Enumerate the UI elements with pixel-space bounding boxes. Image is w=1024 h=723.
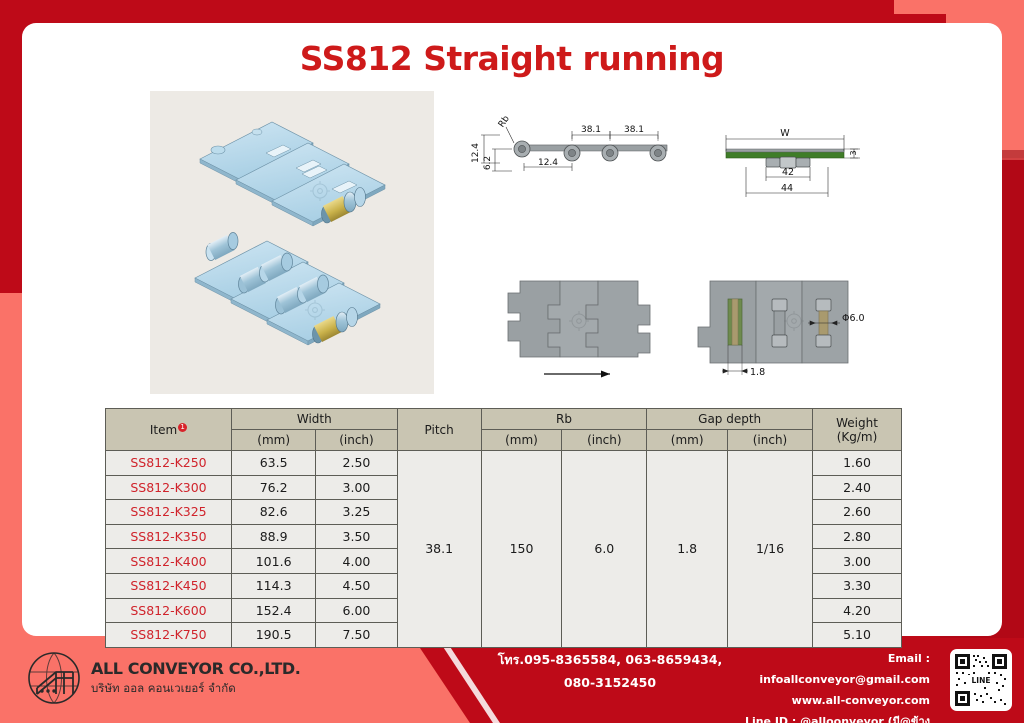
cell-width-mm: 76.2 bbox=[232, 475, 316, 500]
header-item: Item1 bbox=[106, 409, 232, 451]
line-qr-code[interactable]: LINE bbox=[950, 649, 1012, 711]
top-view-drawing-wrap bbox=[482, 261, 672, 386]
dim-phi-6: Φ6.0 bbox=[842, 313, 865, 324]
dim-1-8: 1.8 bbox=[750, 367, 765, 378]
dim-3: 3 bbox=[849, 150, 858, 155]
phone-line-2: 080-3152450 bbox=[490, 671, 730, 694]
side-view-drawing: 12.4 6.2 Rb 12.4 38.1 38.1 bbox=[462, 101, 702, 211]
line-id-line[interactable]: Line ID : @alloonveyor (มี@ข้างหน้า) bbox=[735, 711, 930, 723]
cell-width-mm: 101.6 bbox=[232, 549, 316, 574]
conveyor-globe-icon bbox=[26, 650, 82, 706]
phone-line-1: โทร.095-8365584, 063-8659434, bbox=[490, 648, 730, 671]
cell-item: SS812-K325 bbox=[106, 500, 232, 525]
cell-weight: 1.60 bbox=[813, 451, 902, 476]
qr-code-icon: LINE bbox=[953, 652, 1009, 708]
cell-item: SS812-K350 bbox=[106, 524, 232, 549]
cell-weight: 3.00 bbox=[813, 549, 902, 574]
bottom-view-drawing-wrap: Φ6.0 1.8 bbox=[682, 261, 882, 386]
cell-weight: 3.30 bbox=[813, 573, 902, 598]
frame-accent-top-right-bar bbox=[894, 0, 1024, 14]
datasheet-page: SS812 Straight running bbox=[0, 0, 1024, 723]
company-name: ALL CONVEYOR CO.,LTD. bbox=[91, 659, 300, 678]
header-weight-unit: (Kg/m) bbox=[813, 430, 901, 444]
render-bottom-assembly bbox=[195, 233, 380, 346]
cell-gap-mm: 1.8 bbox=[647, 451, 728, 648]
specification-table: Item1 Width Pitch Rb Gap depth Weight (K… bbox=[105, 408, 902, 648]
header-rb: Rb bbox=[481, 409, 647, 430]
contact-block: Email : infoallconveyor@gmail.com www.al… bbox=[735, 648, 930, 723]
subheader-rb-mm: (mm) bbox=[481, 430, 562, 451]
qr-line-label: LINE bbox=[972, 676, 991, 685]
dim-38-1-a: 38.1 bbox=[581, 125, 601, 135]
direction-arrow bbox=[544, 371, 610, 378]
cell-pitch: 38.1 bbox=[397, 451, 481, 648]
cell-rb-inch: 6.0 bbox=[562, 451, 647, 648]
header-pitch: Pitch bbox=[397, 409, 481, 451]
cell-width-mm: 88.9 bbox=[232, 524, 316, 549]
pin-steel-1 bbox=[772, 299, 787, 347]
dim-12-4-left: 12.4 bbox=[471, 143, 481, 163]
cell-rb-mm: 150 bbox=[481, 451, 562, 648]
header-item-label: Item bbox=[150, 423, 177, 437]
dim-12-4-bottom: 12.4 bbox=[538, 158, 558, 168]
cross-section-drawing: W 3 42 44 bbox=[710, 111, 870, 211]
cell-item: SS812-K450 bbox=[106, 573, 232, 598]
product-render-panel bbox=[150, 91, 434, 394]
cell-weight: 2.40 bbox=[813, 475, 902, 500]
cell-width-inch: 2.50 bbox=[316, 451, 397, 476]
content-card: SS812 Straight running bbox=[22, 23, 1002, 636]
subheader-width-inch: (inch) bbox=[316, 430, 397, 451]
product-3d-render bbox=[150, 91, 434, 394]
table-row: SS812-K25063.52.5038.11506.01.81/161.60 bbox=[106, 451, 902, 476]
dim-38-1-b: 38.1 bbox=[624, 125, 644, 135]
header-weight: Weight (Kg/m) bbox=[813, 409, 902, 451]
cell-weight: 2.80 bbox=[813, 524, 902, 549]
cell-item: SS812-K400 bbox=[106, 549, 232, 574]
subheader-width-mm: (mm) bbox=[232, 430, 316, 451]
cell-width-inch: 4.50 bbox=[316, 573, 397, 598]
cell-width-inch: 3.00 bbox=[316, 475, 397, 500]
subheader-gap-mm: (mm) bbox=[647, 430, 728, 451]
dim-42: 42 bbox=[782, 167, 794, 178]
header-gap-depth: Gap depth bbox=[647, 409, 813, 430]
dim-rb-label: Rb bbox=[497, 114, 512, 130]
subheader-gap-inch: (inch) bbox=[728, 430, 813, 451]
header-weight-label: Weight bbox=[813, 416, 901, 430]
cell-width-inch: 6.00 bbox=[316, 598, 397, 623]
company-name-thai: บริษัท ออล คอนเวเยอร์ จำกัด bbox=[91, 680, 300, 698]
cell-weight: 4.20 bbox=[813, 598, 902, 623]
cell-width-mm: 63.5 bbox=[232, 451, 316, 476]
cell-item: SS812-K300 bbox=[106, 475, 232, 500]
cell-weight: 2.60 bbox=[813, 500, 902, 525]
cell-item: SS812-K600 bbox=[106, 598, 232, 623]
subheader-rb-inch: (inch) bbox=[562, 430, 647, 451]
cell-width-mm: 152.4 bbox=[232, 598, 316, 623]
side-view-drawing-wrap: 12.4 6.2 Rb 12.4 38.1 38.1 bbox=[462, 101, 702, 211]
item-note-badge: 1 bbox=[178, 423, 187, 432]
header-width: Width bbox=[232, 409, 398, 430]
dim-w: W bbox=[780, 128, 790, 139]
cross-section-drawing-wrap: W 3 42 44 bbox=[710, 111, 870, 211]
table-header-row-1: Item1 Width Pitch Rb Gap depth Weight (K… bbox=[106, 409, 902, 430]
page-footer: ALL CONVEYOR CO.,LTD. บริษัท ออล คอนเวเย… bbox=[0, 636, 1024, 723]
dim-44: 44 bbox=[781, 183, 793, 194]
cell-width-inch: 4.00 bbox=[316, 549, 397, 574]
cell-width-mm: 82.6 bbox=[232, 500, 316, 525]
email-line[interactable]: Email : infoallconveyor@gmail.com bbox=[735, 648, 930, 690]
render-top-assembly bbox=[200, 122, 385, 226]
dim-6-2: 6.2 bbox=[483, 156, 493, 170]
cell-gap-inch: 1/16 bbox=[728, 451, 813, 648]
cell-item: SS812-K250 bbox=[106, 451, 232, 476]
top-view-drawing bbox=[482, 261, 672, 386]
table-body: SS812-K25063.52.5038.11506.01.81/161.60S… bbox=[106, 451, 902, 648]
bottom-view-drawing: Φ6.0 1.8 bbox=[682, 261, 882, 386]
cell-width-mm: 114.3 bbox=[232, 573, 316, 598]
company-logo-block: ALL CONVEYOR CO.,LTD. บริษัท ออล คอนเวเย… bbox=[26, 650, 300, 706]
website-line[interactable]: www.all-conveyor.com bbox=[735, 690, 930, 711]
pin-green bbox=[728, 299, 742, 345]
cell-width-inch: 3.50 bbox=[316, 524, 397, 549]
page-title: SS812 Straight running bbox=[22, 39, 1002, 78]
table-head: Item1 Width Pitch Rb Gap depth Weight (K… bbox=[106, 409, 902, 451]
phone-block: โทร.095-8365584, 063-8659434, 080-315245… bbox=[490, 648, 730, 694]
cell-width-inch: 3.25 bbox=[316, 500, 397, 525]
